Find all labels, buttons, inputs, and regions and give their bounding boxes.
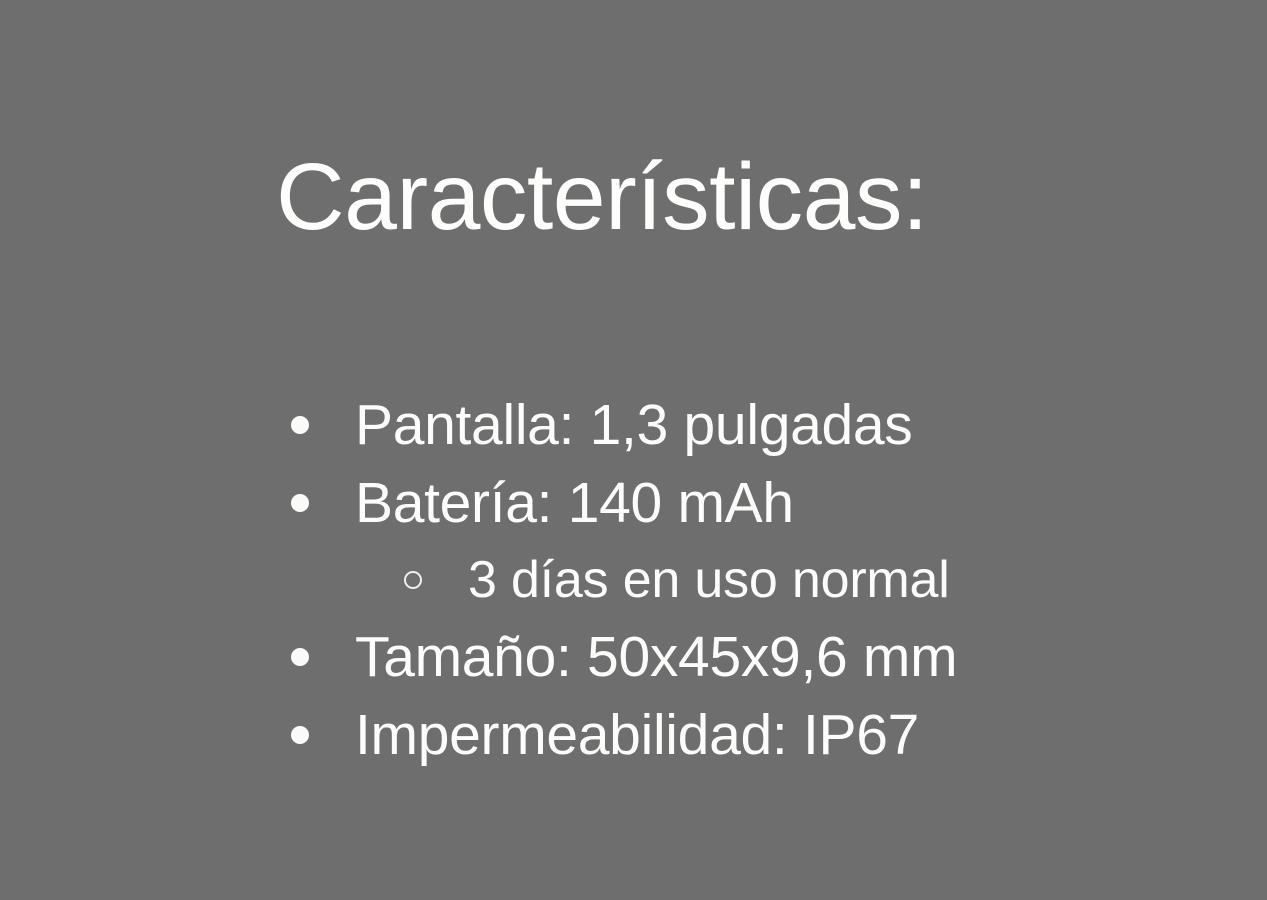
list-item: Impermeabilidad: IP67 — [276, 696, 1216, 774]
filled-disc-bullet-icon — [291, 648, 309, 666]
sub-list-item-label: 3 días en uso normal — [468, 542, 950, 618]
list-item-label: Batería: 140 mAh — [355, 464, 794, 542]
list-item: Tamaño: 50x45x9,6 mm — [276, 618, 1216, 696]
list-item: Pantalla: 1,3 pulgadas — [276, 386, 1216, 464]
sub-list-container: 3 días en uso normal — [276, 542, 1216, 618]
presentation-slide: Características: Pantalla: 1,3 pulgadas … — [0, 0, 1267, 900]
filled-disc-bullet-icon — [291, 416, 309, 434]
sub-list-item: 3 días en uso normal — [276, 542, 1216, 618]
filled-disc-bullet-icon — [291, 494, 309, 512]
page-title: Características: — [276, 148, 928, 248]
list-item-label: Impermeabilidad: IP67 — [355, 696, 919, 774]
sub-feature-list: 3 días en uso normal — [276, 542, 1216, 618]
list-item-label: Tamaño: 50x45x9,6 mm — [355, 618, 957, 696]
feature-list: Pantalla: 1,3 pulgadas Batería: 140 mAh … — [276, 386, 1216, 774]
list-item-label: Pantalla: 1,3 pulgadas — [355, 386, 913, 464]
list-item: Batería: 140 mAh — [276, 464, 1216, 542]
hollow-circle-bullet-icon — [404, 571, 422, 589]
filled-disc-bullet-icon — [291, 726, 309, 744]
